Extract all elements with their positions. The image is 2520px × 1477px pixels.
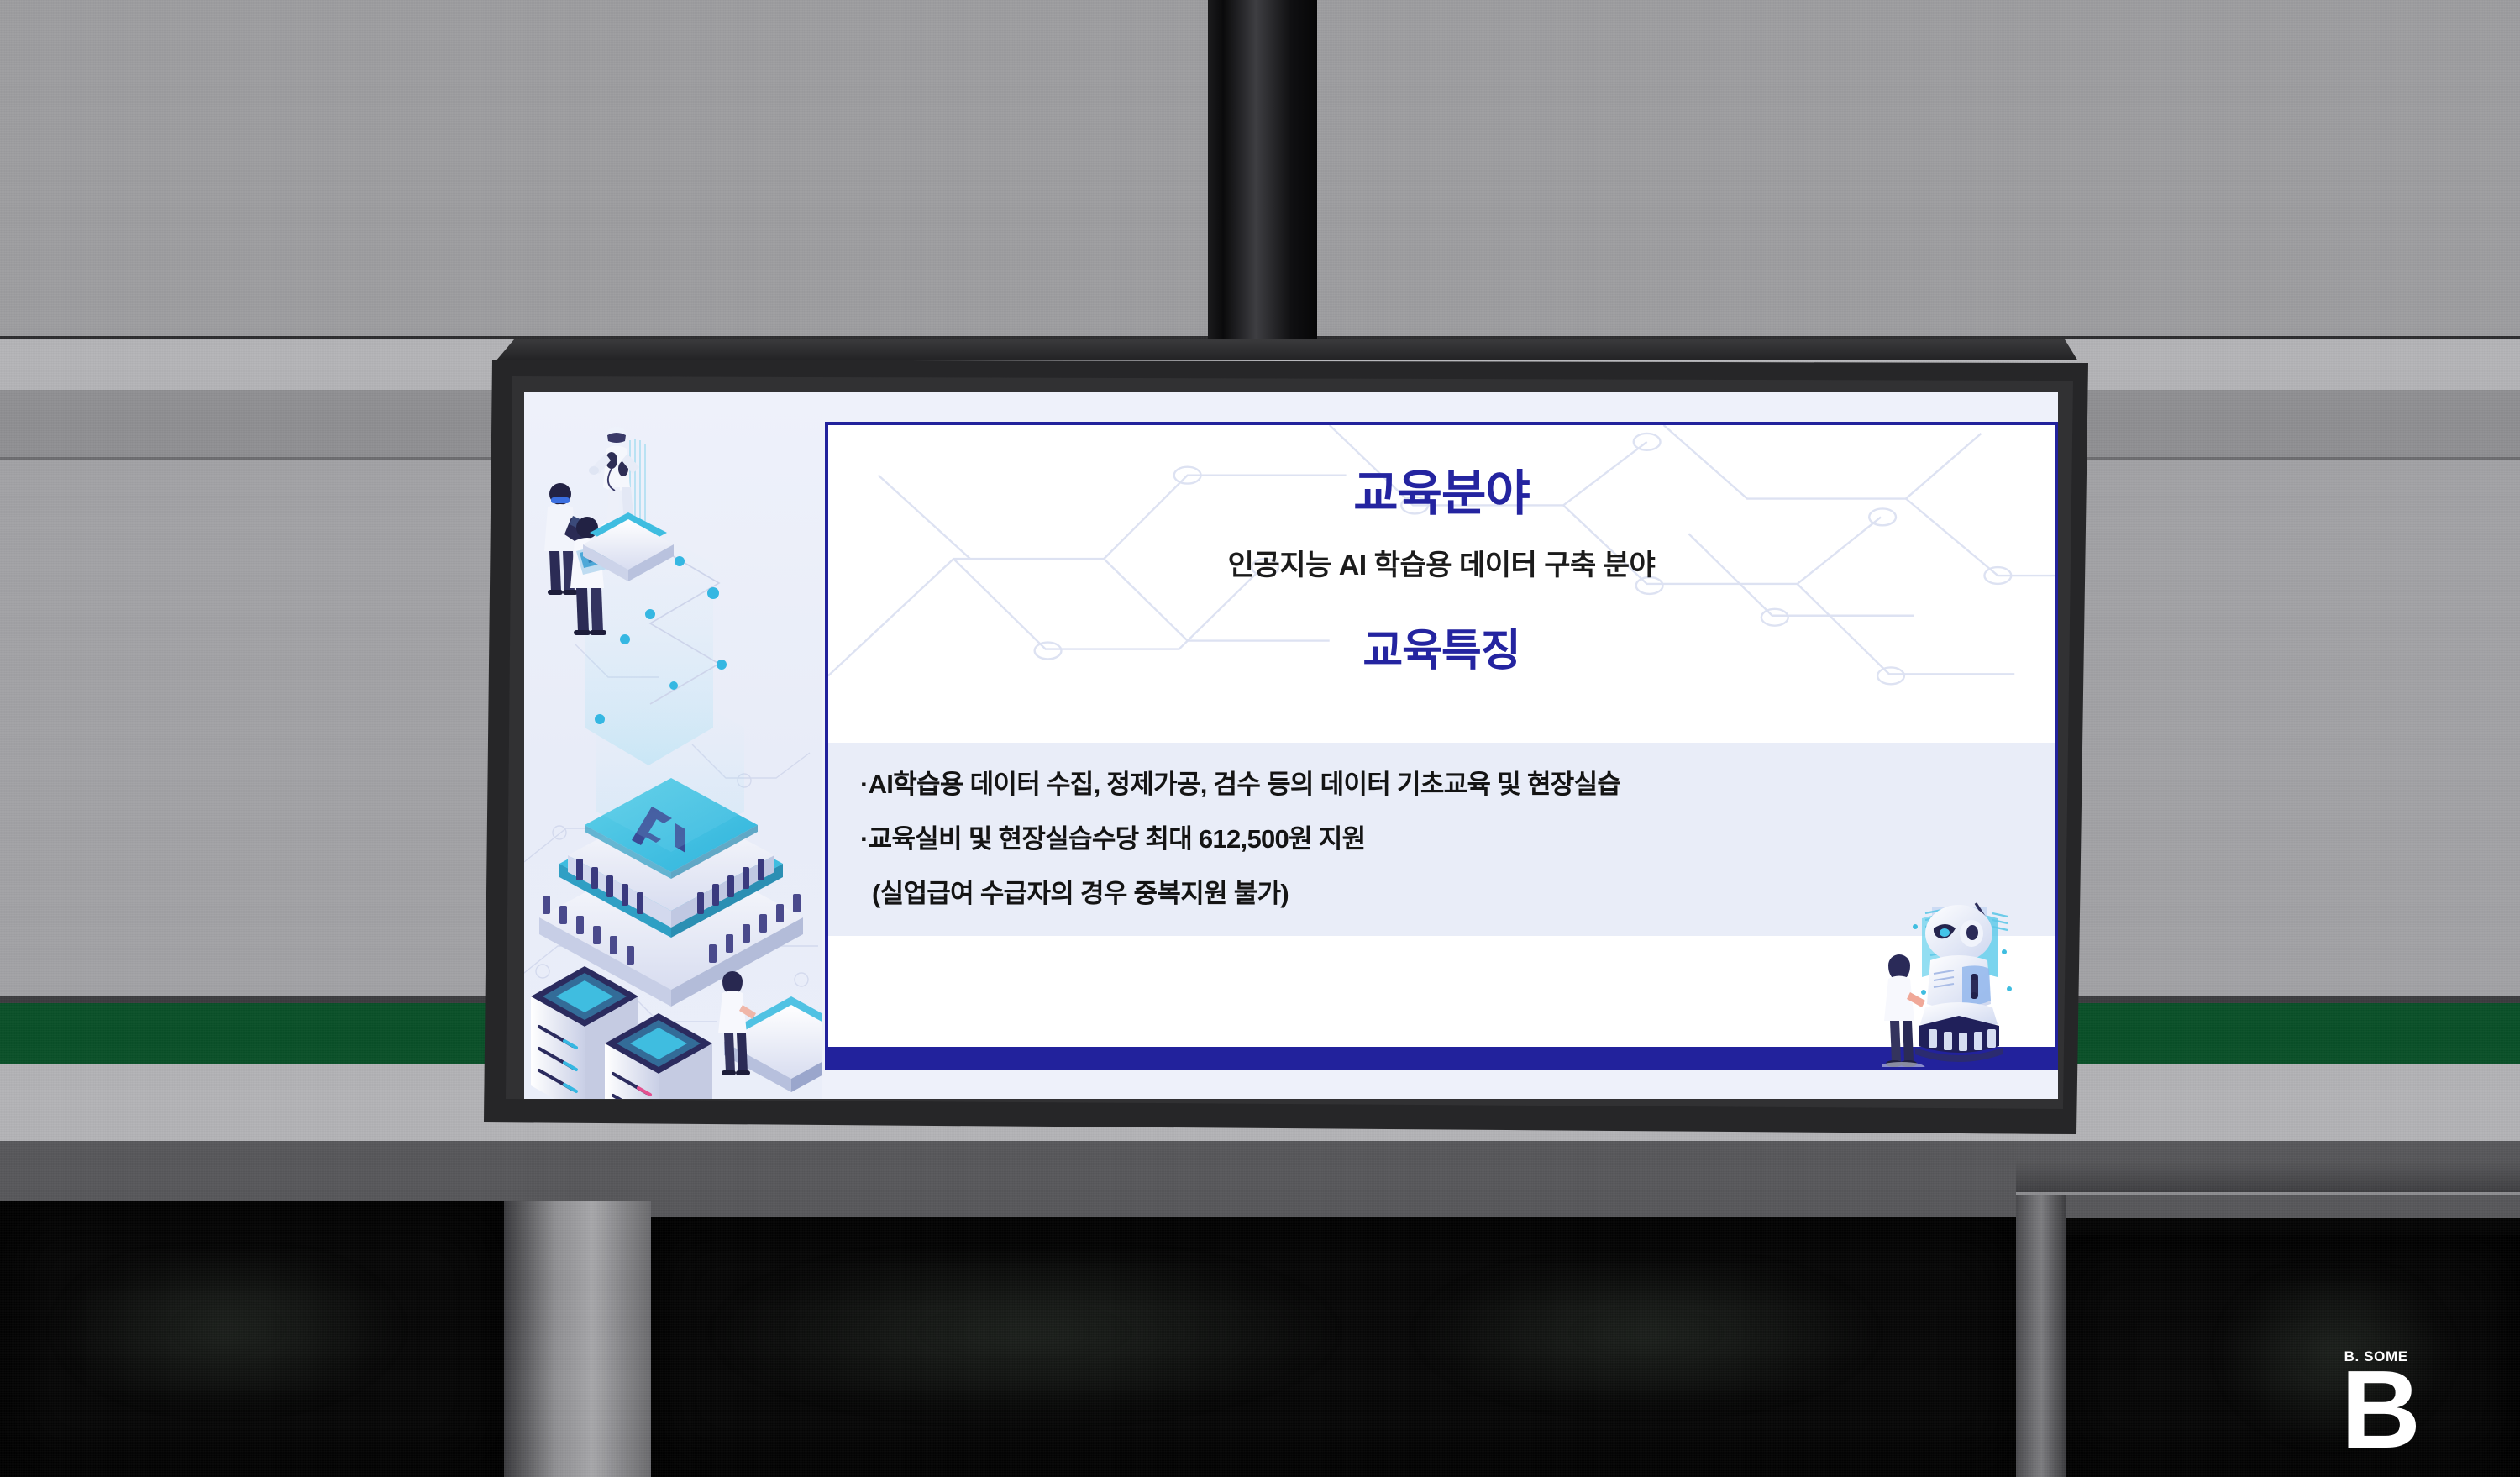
page-title: 교육분야 (828, 469, 2055, 520)
card-content: 교육분야 인공지능 AI 학습용 데이터 구축 분야 교육특징 (828, 425, 2055, 1067)
robot-illustration (1882, 893, 2033, 1070)
section-title-features: 교육특징 (828, 615, 2055, 678)
platform-pillar-left (504, 1201, 651, 1477)
scene-root: 교육분야 인공지능 AI 학습용 데이터 구축 분야 교육특징 ·AI학습용 데… (0, 0, 2520, 1477)
slide-content-card: 교육분야 인공지능 AI 학습용 데이터 구축 분야 교육특징 ·AI학습용 데… (825, 422, 2058, 1070)
ai-illustration-panel (524, 392, 822, 1099)
screen-display-area[interactable]: 교육분야 인공지능 AI 학습용 데이터 구축 분야 교육특징 ·AI학습용 데… (524, 392, 2058, 1099)
watermark-brand: B. SOME B (2341, 1348, 2421, 1453)
train-window-glow-center-2 (1411, 1269, 1882, 1411)
humanoid-robot (583, 427, 674, 581)
ai-isometric-illustration (524, 392, 822, 1099)
ceiling-mount-pole (1208, 0, 1317, 353)
platform-header-beam (2016, 1159, 2520, 1195)
train-window-glow-center (706, 1260, 1344, 1420)
train-window-glow-left (50, 1260, 403, 1411)
page-subtitle: 인공지능 AI 학습용 데이터 구축 분야 (828, 542, 2055, 583)
platform-pillar-right (2016, 1176, 2066, 1477)
monitor-top-bevel (496, 339, 2078, 361)
digital-signage-monitor[interactable]: 교육분야 인공지능 AI 학습용 데이터 구축 분야 교육특징 ·AI학습용 데… (484, 339, 2097, 1138)
watermark-logo: B (2341, 1367, 2421, 1453)
